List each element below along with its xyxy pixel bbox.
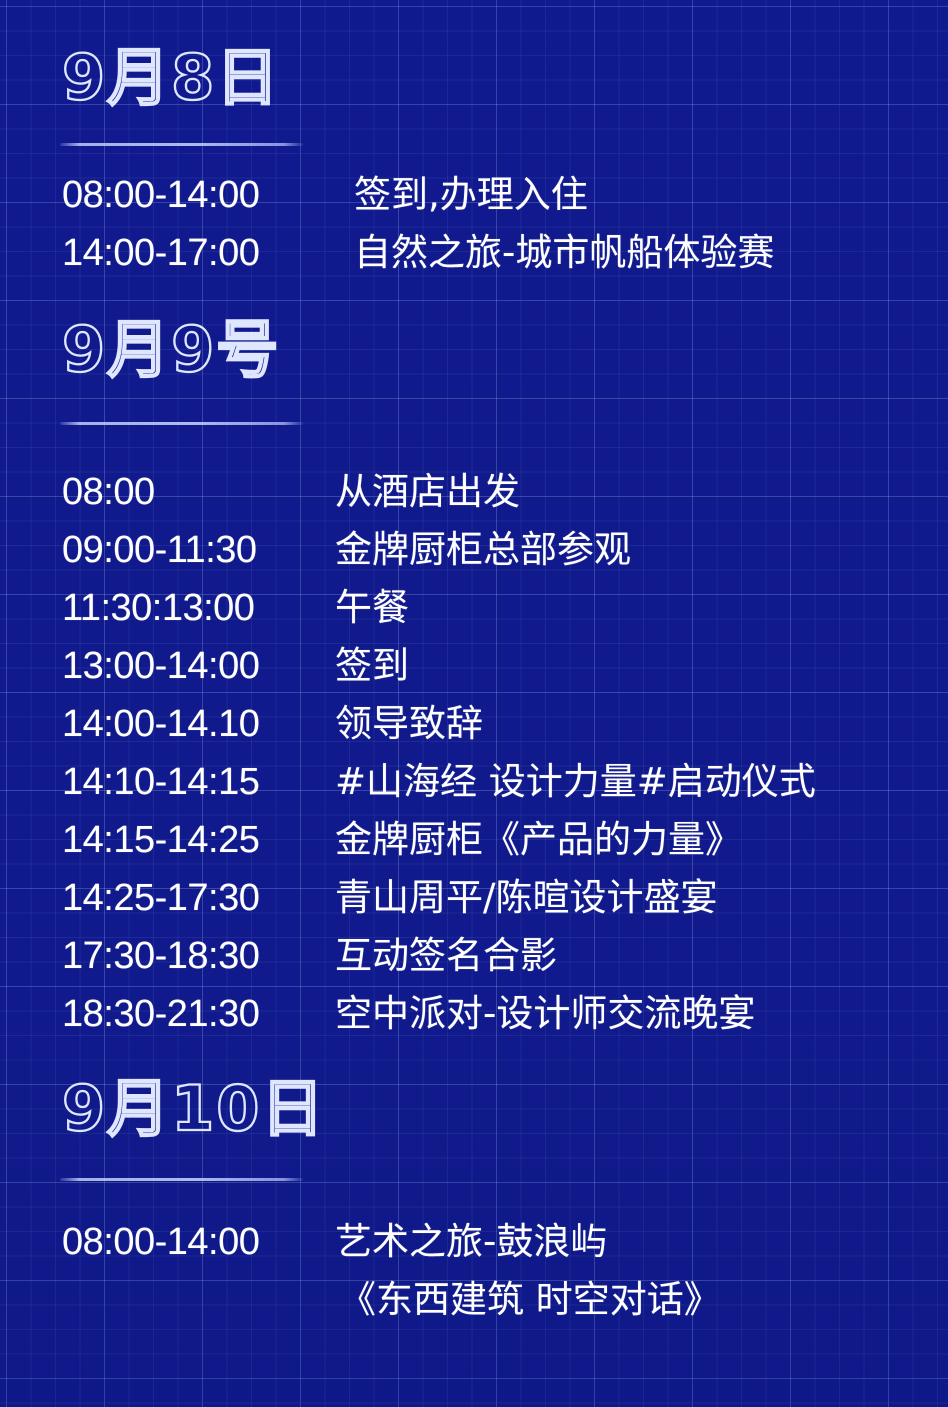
row-activity: 金牌厨柜总部参观	[335, 521, 631, 579]
schedule-row: 14:15-14:25 金牌厨柜《产品的力量》	[62, 811, 948, 869]
schedule-poster: 9月8日 08:00-14:00 签到,办理入住 14:00-17:00 自然之…	[0, 0, 948, 1407]
schedule-section-3: 9月10日 08:00-14:00 艺术之旅-鼓浪屿 《东西建筑 时空对话》	[0, 1043, 948, 1329]
row-activity: 空中派对-设计师交流晚宴	[335, 985, 755, 1043]
row-time: 08:00-14:00	[62, 166, 354, 224]
row-activity: 签到	[335, 637, 409, 695]
row-time: 13:00-14:00	[62, 637, 335, 695]
date-heading-2: 9月9号	[0, 282, 948, 381]
row-time: 17:30-18:30	[62, 927, 335, 985]
schedule-row: 08:00-14:00 艺术之旅-鼓浪屿 《东西建筑 时空对话》	[62, 1213, 948, 1329]
row-time: 14:10-14:15	[62, 753, 335, 811]
schedule-row: 14:00-17:00 自然之旅-城市帆船体验赛	[62, 224, 948, 282]
date-heading-3: 9月10日	[0, 1043, 948, 1140]
row-activity: 互动签名合影	[335, 927, 557, 985]
schedule-row: 14:00-14.10 领导致辞	[62, 695, 948, 753]
section-divider-1	[60, 143, 303, 146]
row-time: 14:00-17:00	[62, 224, 354, 282]
schedule-row: 08:00 从酒店出发	[62, 463, 948, 521]
schedule-row: 13:00-14:00 签到	[62, 637, 948, 695]
section-divider-2	[60, 422, 303, 425]
section-divider-3	[60, 1178, 303, 1181]
row-time: 14:00-14.10	[62, 695, 335, 753]
row-activity: 午餐	[335, 579, 409, 637]
row-time: 14:15-14:25	[62, 811, 335, 869]
schedule-row: 14:10-14:15 #山海经 设计力量#启动仪式	[62, 753, 948, 811]
row-activity: #山海经 设计力量#启动仪式	[335, 753, 816, 811]
row-time: 14:25-17:30	[62, 869, 335, 927]
poster-content: 9月8日 08:00-14:00 签到,办理入住 14:00-17:00 自然之…	[0, 0, 948, 1329]
row-activity-line2: 《东西建筑 时空对话》	[335, 1271, 721, 1329]
schedule-row: 14:25-17:30 青山周平/陈暄设计盛宴	[62, 869, 948, 927]
schedule-row: 09:00-11:30 金牌厨柜总部参观	[62, 521, 948, 579]
schedule-row: 08:00-14:00 签到,办理入住	[62, 166, 948, 224]
row-activity: 艺术之旅-鼓浪屿	[335, 1213, 721, 1271]
schedule-row: 11:30:13:00 午餐	[62, 579, 948, 637]
schedule-section-2: 9月9号 08:00 从酒店出发 09:00-11:30 金牌厨柜总部参观 11…	[0, 282, 948, 1043]
schedule-list-2: 08:00 从酒店出发 09:00-11:30 金牌厨柜总部参观 11:30:1…	[0, 463, 948, 1043]
row-activity: 领导致辞	[335, 695, 483, 753]
schedule-list-1: 08:00-14:00 签到,办理入住 14:00-17:00 自然之旅-城市帆…	[0, 166, 948, 282]
row-activity-group: 艺术之旅-鼓浪屿 《东西建筑 时空对话》	[335, 1213, 721, 1329]
schedule-list-3: 08:00-14:00 艺术之旅-鼓浪屿 《东西建筑 时空对话》	[0, 1213, 948, 1329]
date-heading-1: 9月8日	[0, 0, 948, 109]
row-activity: 签到,办理入住	[354, 166, 588, 224]
schedule-row: 17:30-18:30 互动签名合影	[62, 927, 948, 985]
row-time: 08:00-14:00	[62, 1213, 335, 1271]
schedule-row: 18:30-21:30 空中派对-设计师交流晚宴	[62, 985, 948, 1043]
row-activity: 青山周平/陈暄设计盛宴	[335, 869, 717, 927]
row-activity: 金牌厨柜《产品的力量》	[335, 811, 742, 869]
row-time: 18:30-21:30	[62, 985, 335, 1043]
row-time: 09:00-11:30	[62, 521, 335, 579]
schedule-section-1: 9月8日 08:00-14:00 签到,办理入住 14:00-17:00 自然之…	[0, 0, 948, 282]
row-time: 11:30:13:00	[62, 579, 335, 637]
row-activity: 从酒店出发	[335, 463, 520, 521]
row-time: 08:00	[62, 463, 335, 521]
row-activity: 自然之旅-城市帆船体验赛	[354, 224, 774, 282]
